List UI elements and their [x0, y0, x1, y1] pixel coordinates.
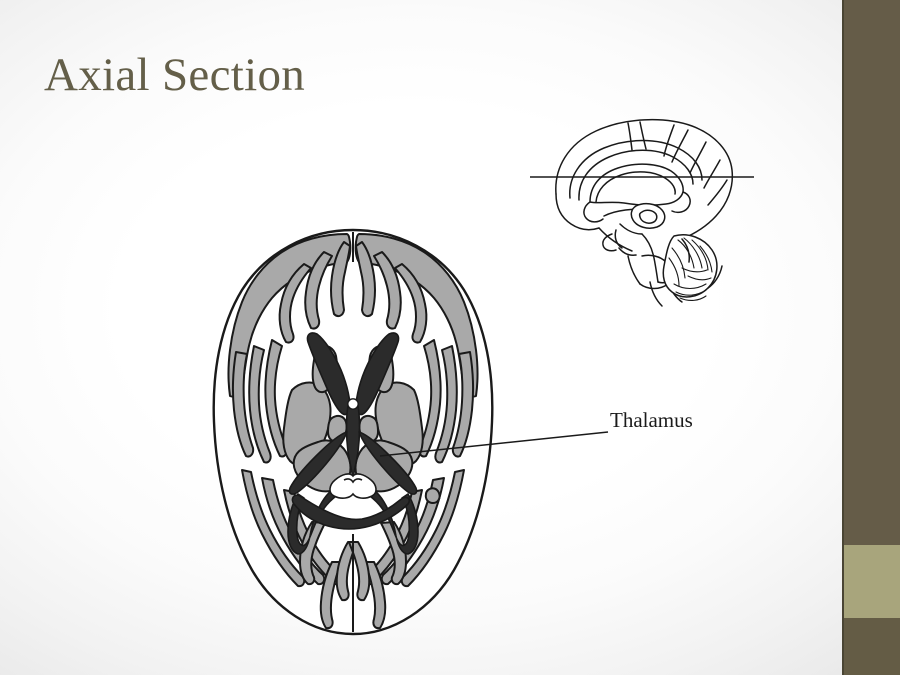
- page-title: Axial Section: [44, 46, 305, 104]
- axial-brain-drawing: [192, 222, 514, 642]
- sagittal-brain-drawing: [524, 106, 760, 274]
- septum-pellucidum-marker: [348, 399, 358, 409]
- thalamus-label: Thalamus: [610, 406, 693, 434]
- sidebar-band-lower-brown: [844, 618, 900, 675]
- sidebar-band-khaki-accent: [844, 545, 900, 618]
- axial-brain-section: [192, 222, 514, 642]
- decorative-sidebar: [842, 0, 900, 675]
- slide-canvas: Axial Section: [0, 0, 900, 675]
- quadrigeminal-cistern: [330, 474, 376, 498]
- mid-sagittal-brain-inset: [524, 106, 760, 274]
- sidebar-band-upper-brown: [844, 0, 900, 545]
